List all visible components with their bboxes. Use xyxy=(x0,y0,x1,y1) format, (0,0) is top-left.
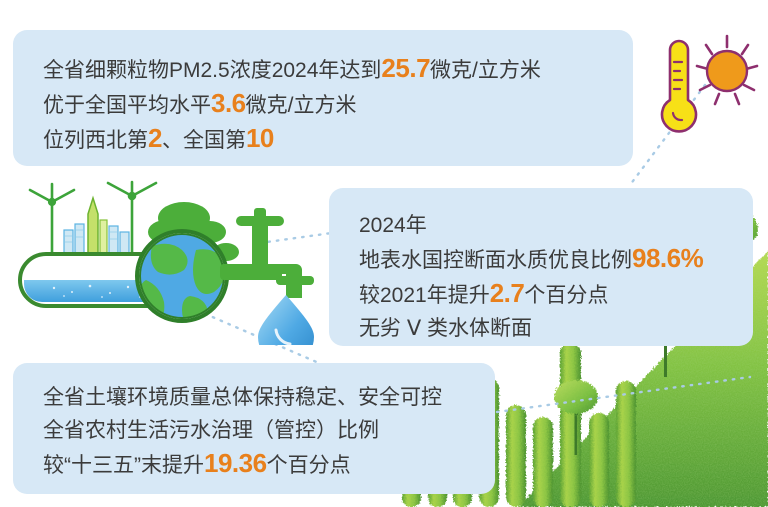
infographic-canvas: 全省细颗粒物PM2.5浓度2024年达到25.7微克/立方米 优于全国平均水平3… xyxy=(0,0,768,507)
text-span: 全省土壤环境质量总体保持稳定、安全可控 xyxy=(43,386,442,409)
text-span: 全省细颗粒物PM2.5浓度2024年达到 xyxy=(43,59,381,82)
highlight-value: 2 xyxy=(148,123,162,153)
callout-line: 2024年 xyxy=(359,209,753,242)
highlight-value: 25.7 xyxy=(381,53,430,83)
callout-air-quality: 全省细颗粒物PM2.5浓度2024年达到25.7微克/立方米 优于全国平均水平3… xyxy=(13,30,633,166)
text-span: 无劣 Ⅴ 类水体断面 xyxy=(359,317,532,340)
thermometer-sun-icon xyxy=(645,28,765,153)
text-span: 较2021年提升 xyxy=(359,284,490,307)
callout-line: 无劣 Ⅴ 类水体断面 xyxy=(359,312,753,345)
text-span: 微克/立方米 xyxy=(246,94,357,117)
callout-line: 全省细颗粒物PM2.5浓度2024年达到25.7微克/立方米 xyxy=(43,52,633,87)
thermometer xyxy=(662,41,696,131)
highlight-value: 3.6 xyxy=(211,88,246,118)
callout-line: 位列西北第2、全国第10 xyxy=(43,122,633,157)
callout-line: 较“十三五”末提升19.36个百分点 xyxy=(43,447,495,482)
text-span: 2024年 xyxy=(359,214,427,237)
connector-hill-to-box3 xyxy=(495,372,755,417)
callout-line: 地表水国控断面水质优良比例98.6% xyxy=(359,242,753,277)
text-span: 位列西北第 xyxy=(43,129,148,152)
sun-disc xyxy=(707,51,747,91)
highlight-value: 10 xyxy=(246,123,274,153)
text-span: 个百分点 xyxy=(267,454,351,477)
faucet-globe-city-icon xyxy=(14,180,334,345)
callout-line: 全省农村生活污水治理（管控）比例 xyxy=(43,414,495,447)
text-span: 全省农村生活污水治理（管控）比例 xyxy=(43,419,379,442)
text-span: 、全国第 xyxy=(162,129,246,152)
callout-line: 优于全国平均水平3.6微克/立方米 xyxy=(43,87,633,122)
callout-water-quality: 2024年 地表水国控断面水质优良比例98.6% 较2021年提升2.7个百分点… xyxy=(329,188,753,346)
highlight-value: 98.6% xyxy=(632,243,703,273)
text-span: 个百分点 xyxy=(524,284,608,307)
callout-soil-quality: 全省土壤环境质量总体保持稳定、安全可控 全省农村生活污水治理（管控）比例 较“十… xyxy=(13,363,495,494)
highlight-value: 2.7 xyxy=(490,278,525,308)
globe xyxy=(137,231,227,328)
city-skyline xyxy=(64,198,129,256)
text-span: 优于全国平均水平 xyxy=(43,94,211,117)
callout-line: 较2021年提升2.7个百分点 xyxy=(359,277,753,312)
text-span: 地表水国控断面水质优良比例 xyxy=(359,249,632,272)
text-span: 微克/立方米 xyxy=(430,59,541,82)
text-span: 较“十三五”末提升 xyxy=(43,454,204,477)
water-drop xyxy=(258,295,314,345)
callout-line: 全省土壤环境质量总体保持稳定、安全可控 xyxy=(43,381,495,414)
highlight-value: 19.36 xyxy=(204,448,267,478)
